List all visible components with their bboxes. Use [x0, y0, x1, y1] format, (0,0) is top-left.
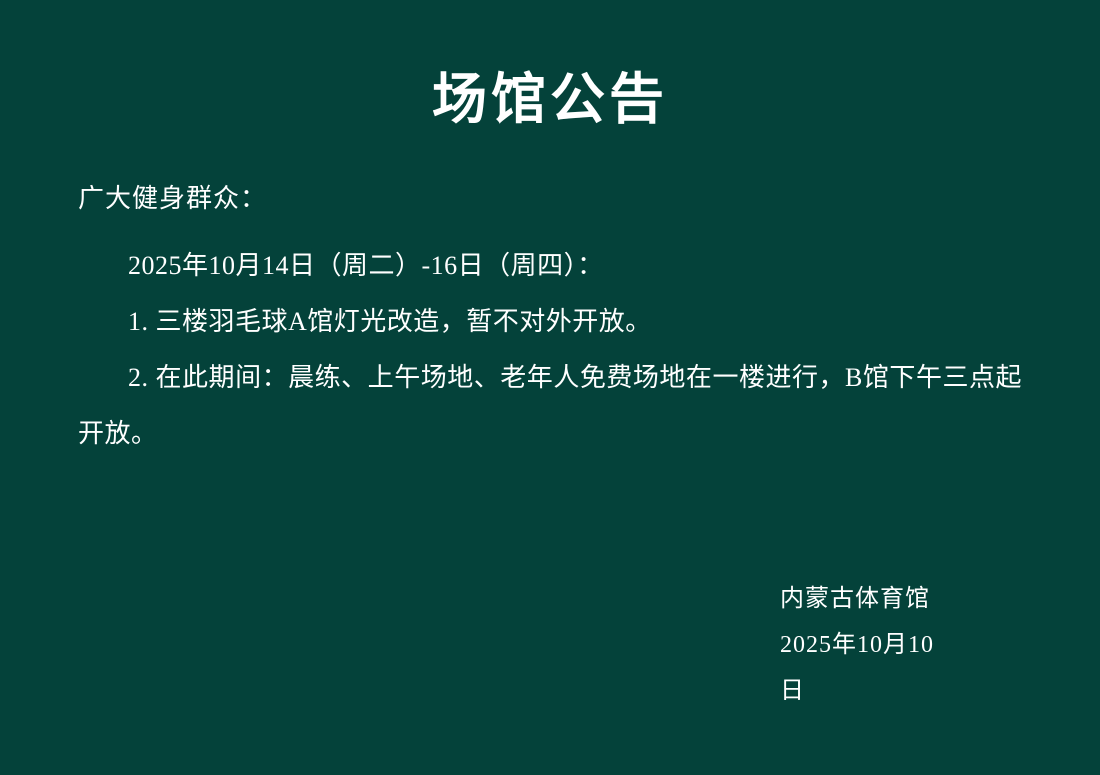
body-line-item-1: 1. 三楼羽毛球A馆灯光改造，暂不对外开放。: [78, 294, 1022, 350]
notice-body: 广大健身群众： 2025年10月14日（周二）-16日（周四）： 1. 三楼羽毛…: [78, 178, 1022, 462]
signature-block: 内蒙古体育馆 2025年10月10日: [0, 576, 1100, 714]
salutation-line: 广大健身群众：: [78, 178, 1022, 220]
page-title: 场馆公告: [0, 66, 1100, 132]
body-line-date-range: 2025年10月14日（周二）-16日（周四）：: [78, 238, 1022, 294]
body-line-item-2: 2. 在此期间：晨练、上午场地、老年人免费场地在一楼进行，B馆下午三点起开放。: [78, 350, 1022, 462]
signature-organization: 内蒙古体育馆: [0, 576, 950, 622]
signature-date: 2025年10月10日: [0, 622, 950, 714]
notice-page: 场馆公告 广大健身群众： 2025年10月14日（周二）-16日（周四）： 1.…: [0, 0, 1100, 775]
